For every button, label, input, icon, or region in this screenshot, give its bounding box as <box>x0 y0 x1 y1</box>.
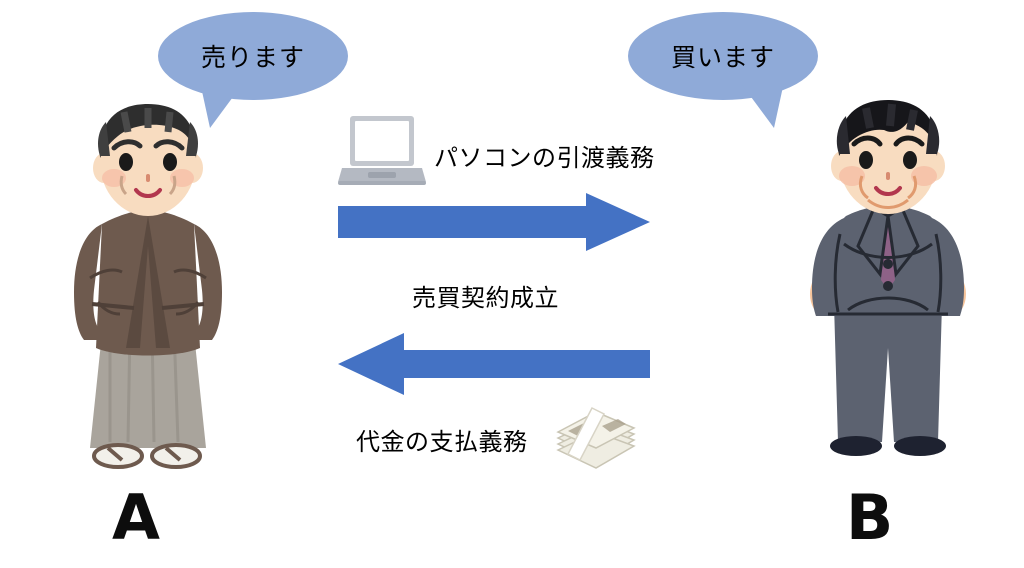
speech-bubble-buy-tail <box>740 82 784 128</box>
arrow-payment-shape <box>338 333 650 395</box>
laptop-icon <box>338 112 426 195</box>
arrow-payment <box>338 333 650 400</box>
party-letter-b: B <box>846 487 893 549</box>
character-seller-a <box>48 96 248 491</box>
label-contract-formed: 売買契約成立 <box>412 278 559 313</box>
character-buyer-b <box>788 96 988 491</box>
speech-bubble-sell-text: 売ります <box>201 38 305 74</box>
diagram-canvas: 売ります 買います <box>0 0 1024 568</box>
party-letter-a: A <box>112 487 160 549</box>
laptop-glyph <box>338 112 426 190</box>
buyer-illustration <box>788 96 988 486</box>
speech-bubble-sell-tail <box>200 82 244 128</box>
speech-bubble-buy: 買います <box>628 12 818 100</box>
arrow-delivery <box>338 193 650 256</box>
arrow-delivery-shape <box>338 193 650 251</box>
label-delivery-obligation: パソコンの引渡義務 <box>434 138 655 173</box>
speech-bubble-buy-text: 買います <box>671 38 775 74</box>
seller-illustration <box>48 96 248 486</box>
label-payment-obligation: 代金の支払義務 <box>356 422 528 457</box>
money-stack-icon <box>552 398 638 475</box>
money-stack-glyph <box>552 398 638 470</box>
speech-bubble-sell: 売ります <box>158 12 348 100</box>
